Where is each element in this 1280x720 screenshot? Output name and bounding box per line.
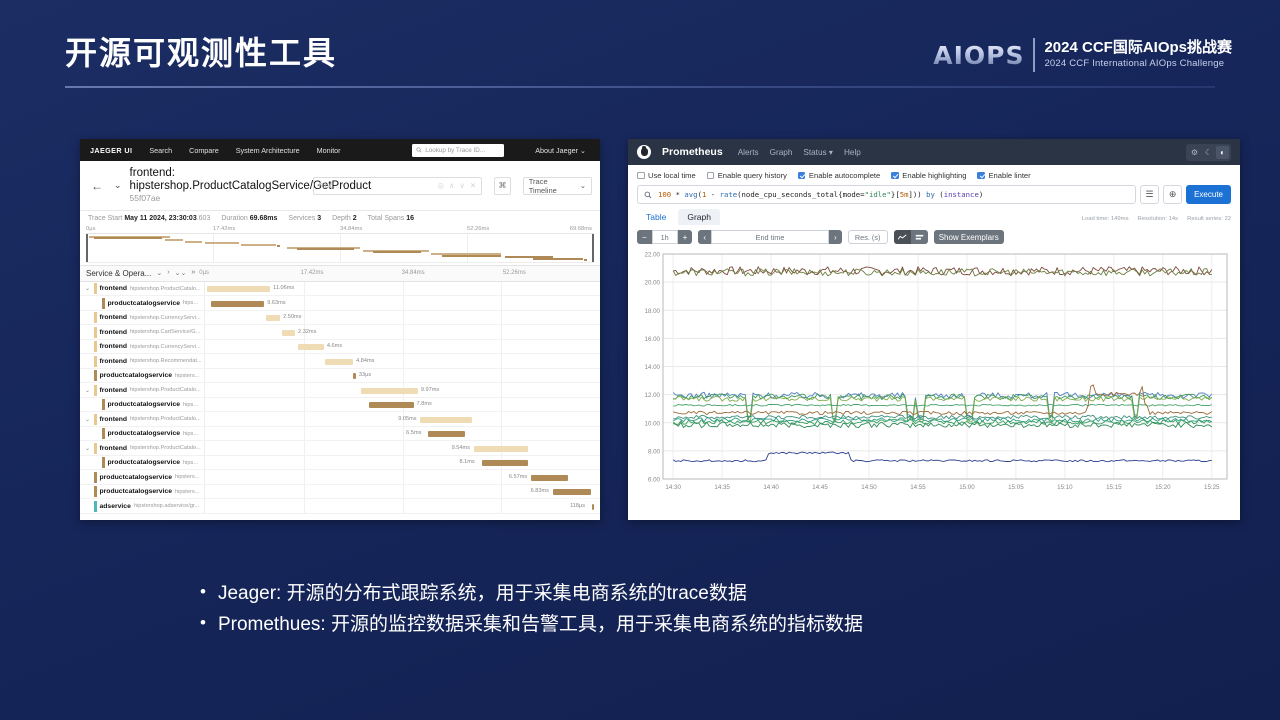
span-duration-label: 11.06ms: [273, 285, 294, 291]
minimap-drag-handle[interactable]: [592, 234, 594, 262]
range-stepper[interactable]: − 1h +: [637, 230, 692, 244]
timeline-gridline: [403, 427, 404, 441]
table-row[interactable]: ⌄frontendhipstershop.ProductCatalo...9.5…: [80, 441, 600, 456]
moon-icon[interactable]: ☾: [1202, 146, 1215, 159]
service-color-swatch: [94, 472, 97, 483]
span-name-cell[interactable]: frontendhipstershop.CurrencyServi...: [80, 341, 204, 352]
logo-mark: AIOPS: [933, 41, 1024, 70]
timeline-gridline: [304, 296, 305, 310]
checkbox-enable-highlighting[interactable]: Enable highlighting: [891, 171, 966, 180]
y-axis-label: 6.00: [648, 477, 661, 484]
prometheus-nav-alerts[interactable]: Alerts: [738, 148, 759, 157]
span-bar[interactable]: [369, 402, 414, 408]
table-row[interactable]: ⌄frontendhipstershop.ProductCatalo...9.9…: [80, 383, 600, 398]
timeline-gridline: [403, 325, 404, 339]
span-track[interactable]: 2.50ms: [204, 311, 600, 325]
prometheus-brand[interactable]: Prometheus: [662, 146, 723, 158]
line-chart-icon[interactable]: [894, 230, 911, 244]
span-name-cell[interactable]: adservicehipstershop.adservice/gr...: [80, 501, 204, 512]
table-row[interactable]: productcatalogservicehips...7.8ms: [80, 398, 600, 413]
graph-controls[interactable]: − 1h + ‹ End time › Res. (s) Show Exempl…: [628, 225, 1240, 250]
x-axis-label: 14:40: [763, 484, 779, 491]
span-duration-label: 6.57ms: [509, 474, 527, 480]
trace-id-search-placeholder: Lookup by Trace ID...: [425, 147, 485, 154]
timeline-gridline: [501, 383, 502, 397]
query-token: mode: [843, 190, 861, 199]
timeline-gridline: [501, 398, 502, 412]
minimap-drag-handle[interactable]: [86, 234, 88, 262]
find-next-icon[interactable]: ∨: [459, 181, 465, 190]
find-clear-icon[interactable]: ◎: [437, 181, 444, 190]
keyboard-shortcut-button[interactable]: ⌘: [494, 177, 511, 195]
chart-type-toggle[interactable]: [894, 230, 928, 244]
timeline-gridline: [403, 456, 404, 470]
minimap-tick: 69.68ms: [570, 226, 592, 232]
y-axis-label: 8.00: [648, 448, 661, 455]
table-row[interactable]: frontendhipstershop.CurrencyServi...4.6m…: [80, 340, 600, 355]
contrast-icon[interactable]: ◐: [1216, 146, 1229, 159]
query-stats: Load time: 149ms Resolution: 14s Result …: [1082, 216, 1231, 225]
time-prev-button[interactable]: ‹: [698, 230, 711, 244]
theme-controls[interactable]: ⚙ ☾ ◐: [1186, 144, 1231, 161]
page-title: 开源可观测性工具: [65, 28, 337, 74]
prometheus-nav-graph[interactable]: Graph: [770, 148, 793, 157]
service-color-swatch: [102, 428, 105, 439]
span-bar[interactable]: [482, 460, 528, 466]
trace-minimap[interactable]: 0µs17.42ms34.84ms52.26ms69.68ms: [86, 225, 594, 263]
span-service-name: frontend: [100, 445, 128, 452]
span-operation-name: hipstershop.Recommendat...: [130, 358, 202, 364]
query-token: }[: [891, 190, 900, 199]
span-name-cell[interactable]: ⌄frontendhipstershop.ProductCatalo...: [80, 283, 204, 294]
minimap-tick: 0µs: [86, 226, 95, 232]
timeline-tick: 52.26ms: [503, 270, 526, 276]
timeline-tick: 0µs: [199, 270, 209, 276]
minimap-span-bar: [373, 251, 421, 253]
span-operation-name: hipstershop.ProductCatalo...: [130, 445, 201, 451]
minimap-ticks: 0µs17.42ms34.84ms52.26ms69.68ms: [86, 225, 594, 234]
span-track[interactable]: 4.6ms: [204, 340, 600, 354]
service-color-swatch: [94, 356, 97, 367]
checkbox-icon[interactable]: [798, 172, 806, 180]
span-track[interactable]: 9.05ms: [204, 412, 600, 426]
stat-result-series: Result series: 22: [1187, 216, 1231, 222]
chevron-down-icon[interactable]: ⌄: [84, 387, 91, 394]
span-track[interactable]: 9.54ms: [204, 441, 600, 455]
jaeger-nav-compare[interactable]: Compare: [189, 146, 219, 155]
span-column-title: Service & Opera...: [86, 269, 151, 278]
series-line-instance-d[interactable]: [673, 394, 1212, 420]
find-prev-icon[interactable]: ∧: [449, 181, 455, 190]
span-operation-name: hips...: [183, 300, 198, 306]
table-row[interactable]: productcatalogservicehipsters...6.57ms: [80, 470, 600, 485]
span-service-name: productcatalogservice: [100, 488, 173, 495]
timeline-gridline: [304, 398, 305, 412]
minimap-canvas[interactable]: [86, 234, 594, 262]
trace-id: 55f07ae: [130, 193, 161, 203]
span-name-cell[interactable]: ⌄frontendhipstershop.ProductCatalo...: [80, 414, 204, 425]
service-color-swatch: [102, 399, 105, 410]
query-options[interactable]: Use local timeEnable query historyEnable…: [628, 165, 1240, 185]
chevron-down-icon[interactable]: ⌄: [84, 285, 91, 292]
show-exemplars-button[interactable]: Show Exemplars: [934, 230, 1004, 244]
end-time-input[interactable]: End time: [711, 230, 829, 244]
table-row[interactable]: productcatalogservicehips...9.63ms: [80, 296, 600, 311]
query-input[interactable]: 100 * avg(1 - rate(node_cpu_seconds_tota…: [637, 185, 1136, 204]
jaeger-navbar: JAEGER UI Search Compare System Architec…: [80, 139, 600, 161]
find-controls[interactable]: ◎ ∧ ∨ ✕: [437, 181, 476, 190]
timeline-gridline: [403, 470, 404, 484]
span-bar[interactable]: [353, 373, 356, 379]
jaeger-nav-monitor[interactable]: Monitor: [317, 146, 341, 155]
table-row[interactable]: ⌄frontendhipstershop.ProductCatalo...11.…: [80, 282, 600, 297]
series-line-instance-l[interactable]: [673, 452, 1212, 462]
span-track[interactable]: 6.83ms: [204, 485, 600, 499]
bullet-dot-icon: •: [200, 578, 206, 606]
metrics-explorer-icon[interactable]: ☰: [1140, 185, 1159, 204]
time-next-button[interactable]: ›: [829, 230, 842, 244]
search-icon: [644, 191, 652, 199]
graph-area[interactable]: 6.008.0010.0012.0014.0016.0018.0020.0022…: [628, 250, 1240, 506]
logo-divider: [1033, 38, 1035, 72]
span-duration-label: 7.8ms: [417, 401, 432, 407]
span-track[interactable]: 4.84ms: [204, 354, 600, 368]
span-duration-label: 9.97ms: [421, 387, 439, 393]
table-row[interactable]: productcatalogservicehipsters...6.83ms: [80, 485, 600, 500]
timeline-gridline: [304, 354, 305, 368]
timeline-gridline: [403, 441, 404, 455]
timeline-gridline: [403, 369, 404, 383]
span-name-cell[interactable]: ⌄frontendhipstershop.ProductCatalo...: [80, 385, 204, 396]
span-track[interactable]: 8.1ms: [204, 456, 600, 470]
tab-table[interactable]: Table: [637, 209, 675, 225]
timeline-gridline: [304, 311, 305, 325]
stat-resolution: Resolution: 14s: [1138, 216, 1179, 222]
span-bar[interactable]: [207, 286, 270, 292]
span-operation-name: hipstershop.CartService/G...: [130, 329, 200, 335]
stacked-chart-icon[interactable]: [911, 230, 928, 244]
span-duration-label: 2.32ms: [298, 329, 316, 335]
timeline-gridline: [501, 282, 502, 296]
span-name-cell[interactable]: productcatalogservicehips...: [80, 399, 204, 410]
prometheus-nav-status[interactable]: Status ▾: [803, 147, 833, 157]
span-service-name: adservice: [100, 503, 131, 510]
timeline-gridline: [304, 412, 305, 426]
cpu-usage-line-chart[interactable]: 6.008.0010.0012.0014.0016.0018.0020.0022…: [637, 250, 1231, 495]
span-track[interactable]: 6.57ms: [204, 470, 600, 484]
timeline-gridline: [501, 499, 502, 513]
span-duration-label: 4.84ms: [356, 358, 374, 364]
timeline-gridline: [403, 311, 404, 325]
jaeger-screenshot: JAEGER UI Search Compare System Architec…: [80, 139, 600, 520]
table-row[interactable]: ⌄frontendhipstershop.ProductCatalo...9.0…: [80, 412, 600, 427]
range-input[interactable]: 1h: [652, 230, 678, 244]
span-column-header: Service & Opera... ⌄ › ⌄⌄ » 0µs17.42ms34…: [80, 265, 600, 282]
collapse-two-icon[interactable]: ⌄⌄: [175, 269, 187, 277]
timeline-gridline: [304, 282, 305, 296]
prometheus-navbar: Prometheus Alerts Graph Status ▾ Help ⚙ …: [628, 139, 1240, 165]
meta-trace-start: Trace Start May 11 2024, 23:30:03.603: [88, 215, 210, 222]
chevron-down-icon[interactable]: ⌄: [114, 180, 122, 191]
span-bar[interactable]: [592, 504, 594, 510]
find-placeholder: Find...: [319, 181, 340, 190]
span-track[interactable]: 33µs: [204, 369, 600, 383]
span-bar[interactable]: [282, 330, 295, 336]
span-service-name: productcatalogservice: [108, 300, 181, 307]
minimap-gridline: [213, 234, 214, 262]
service-color-swatch: [94, 414, 97, 425]
span-duration-label: 118µs: [570, 503, 585, 509]
query-help-icon[interactable]: ⊕: [1163, 185, 1182, 204]
timeline-gridline: [501, 427, 502, 441]
timeline-gridline: [501, 325, 502, 339]
table-row[interactable]: adservicehipstershop.adservice/gr...118µ…: [80, 499, 600, 514]
chevron-down-icon[interactable]: ⌄: [84, 416, 91, 423]
service-color-swatch: [94, 341, 97, 352]
gear-icon[interactable]: ⚙: [1188, 146, 1201, 159]
minimap-span-bar: [297, 248, 354, 250]
minimap-tick: 34.84ms: [340, 226, 362, 232]
span-operation-name: hipsters...: [175, 489, 199, 495]
table-row[interactable]: frontendhipstershop.CurrencyServi...2.50…: [80, 311, 600, 326]
timeline-gridline: [501, 470, 502, 484]
span-name-cell[interactable]: frontendhipstershop.CurrencyServi...: [80, 312, 204, 323]
aiops-logo: AIOPS 2024 CCF国际AIOps挑战赛 2024 CCF Intern…: [933, 38, 1232, 72]
prometheus-logo-icon: [637, 145, 651, 159]
range-increase-button[interactable]: +: [678, 230, 693, 244]
timeline-gridline: [304, 470, 305, 484]
span-bar[interactable]: [420, 417, 472, 423]
span-bar[interactable]: [298, 344, 324, 350]
find-close-icon[interactable]: ✕: [470, 181, 476, 190]
end-time-picker[interactable]: ‹ End time ›: [698, 230, 841, 244]
checkbox-enable-query-history[interactable]: Enable query history: [707, 171, 787, 180]
span-duration-label: 33µs: [359, 372, 371, 378]
series-line-instance-f[interactable]: [673, 404, 1212, 406]
trace-title: frontend: hipstershop.ProductCatalogServ…: [130, 167, 305, 205]
span-duration-label: 2.50ms: [283, 314, 301, 320]
span-service-name: frontend: [100, 387, 128, 394]
minimap-gridline: [467, 234, 468, 262]
y-axis-label: 20.00: [645, 280, 661, 287]
span-operation-name: hipsters...: [175, 373, 199, 379]
minimap-span-bar: [584, 259, 587, 261]
span-bar[interactable]: [211, 301, 264, 307]
result-tabs[interactable]: Table Graph Load time: 149ms Resolution:…: [628, 204, 1240, 225]
span-name-cell[interactable]: productcatalogservicehipsters...: [80, 486, 204, 497]
minimap-span-bar: [241, 244, 277, 246]
span-name-cell[interactable]: productcatalogservicehipsters...: [80, 472, 204, 483]
span-operation-name: hipstershop.CurrencyServi...: [130, 315, 201, 321]
span-service-name: frontend: [100, 285, 128, 292]
logo-title-cn: 2024 CCF国际AIOps挑战赛: [1044, 39, 1232, 58]
x-axis-label: 14:45: [812, 484, 828, 491]
jaeger-nav-system-architecture[interactable]: System Architecture: [236, 146, 300, 155]
checkbox-label: Enable autocomplete: [809, 171, 880, 180]
service-color-swatch: [94, 370, 97, 381]
span-name-cell[interactable]: productcatalogservicehipsters...: [80, 370, 204, 381]
span-operation-name: hipstershop.ProductCatalo...: [130, 416, 201, 422]
minimap-span-bar: [165, 239, 183, 241]
checkbox-enable-linter[interactable]: Enable linter: [977, 171, 1030, 180]
checkbox-icon[interactable]: [637, 172, 645, 180]
query-token: ): [979, 190, 983, 199]
span-track[interactable]: 9.97ms: [204, 383, 600, 397]
execute-button[interactable]: Execute: [1186, 185, 1231, 204]
trace-id-search-input[interactable]: Lookup by Trace ID...: [412, 144, 504, 157]
x-axis-label: 15:15: [1106, 484, 1122, 491]
span-duration-label: 6.83ms: [531, 488, 549, 494]
back-arrow-icon[interactable]: ←: [88, 179, 106, 193]
bullet-list: • Jeager: 开源的分布式跟踪系统，用于采集电商系统的trace数据 • …: [200, 578, 863, 641]
query-token: instance: [944, 190, 979, 199]
query-token: *: [671, 190, 684, 199]
span-bar[interactable]: [325, 359, 353, 365]
span-track[interactable]: 6.5ms: [204, 427, 600, 441]
timeline-gridline: [501, 354, 502, 368]
range-decrease-button[interactable]: −: [637, 230, 652, 244]
span-name-cell[interactable]: frontendhipstershop.CartService/G...: [80, 327, 204, 338]
checkbox-use-local-time[interactable]: Use local time: [637, 171, 696, 180]
title-divider: [65, 86, 1215, 88]
timeline-gridline: [501, 412, 502, 426]
query-token: (node_cpu_seconds_total{: [737, 190, 842, 199]
timeline-tick-header: 0µs17.42ms34.84ms52.26ms: [195, 266, 600, 281]
table-row[interactable]: productcatalogservicehips...6.5ms: [80, 427, 600, 442]
table-row[interactable]: productcatalogservicehipsters...33µs: [80, 369, 600, 384]
about-jaeger-menu[interactable]: About Jaeger ⌄: [535, 146, 586, 155]
span-operation-name: hips...: [183, 460, 198, 466]
span-service-name: frontend: [100, 416, 128, 423]
span-track[interactable]: 7.8ms: [204, 398, 600, 412]
span-bar[interactable]: [361, 388, 418, 394]
service-color-swatch: [94, 312, 97, 323]
chevron-down-icon[interactable]: ⌄: [84, 445, 91, 452]
service-color-swatch: [94, 385, 97, 396]
query-token: 100: [658, 190, 671, 199]
span-name-cell[interactable]: productcatalogservicehips...: [80, 298, 204, 309]
jaeger-nav-search[interactable]: Search: [149, 146, 172, 155]
query-token: -: [706, 190, 719, 199]
minimap-tick: 17.42ms: [213, 226, 235, 232]
chevron-down-icon: ⌄: [580, 181, 586, 190]
span-track[interactable]: 118µs: [204, 499, 600, 513]
prometheus-nav-help[interactable]: Help: [844, 148, 861, 157]
find-input[interactable]: Find... ◎ ∧ ∨ ✕: [313, 177, 483, 195]
span-operation-name: hipstershop.ProductCatalo...: [130, 286, 201, 292]
table-row[interactable]: frontendhipstershop.Recommendat...4.84ms: [80, 354, 600, 369]
bullet-text: Promethues: 开源的监控数据采集和告警工具，用于采集电商系统的指标数据: [218, 609, 863, 640]
span-service-name: productcatalogservice: [100, 474, 173, 481]
query-token: by: [926, 190, 935, 199]
timeline-gridline: [501, 485, 502, 499]
query-expression: 100 * avg(1 - rate(node_cpu_seconds_tota…: [658, 190, 983, 199]
span-operation-name: hipstershop.CurrencyServi...: [130, 344, 201, 350]
meta-duration: Duration 69.68ms: [221, 215, 277, 222]
table-row[interactable]: productcatalogservicehips...8.1ms: [80, 456, 600, 471]
query-token: (: [935, 190, 944, 199]
service-color-swatch: [94, 486, 97, 497]
span-service-name: productcatalogservice: [108, 459, 181, 466]
x-axis-label: 14:30: [665, 484, 681, 491]
span-track[interactable]: 2.32ms: [204, 325, 600, 339]
search-icon: [416, 147, 422, 153]
query-token: 5m: [900, 190, 909, 199]
span-column-controls[interactable]: ⌄ › ⌄⌄ »: [156, 269, 195, 277]
prometheus-screenshot: Prometheus Alerts Graph Status ▾ Help ⚙ …: [628, 139, 1240, 520]
list-item: • Jeager: 开源的分布式跟踪系统，用于采集电商系统的trace数据: [200, 578, 863, 609]
service-color-swatch: [94, 443, 97, 454]
span-name-cell[interactable]: productcatalogservicehips...: [80, 428, 204, 439]
y-axis-label: 12.00: [645, 392, 661, 399]
minimap-span-bar: [533, 258, 583, 260]
query-row[interactable]: 100 * avg(1 - rate(node_cpu_seconds_tota…: [628, 185, 1240, 204]
service-color-swatch: [94, 283, 97, 294]
checkbox-enable-autocomplete[interactable]: Enable autocomplete: [798, 171, 880, 180]
minimap-span-bar: [94, 237, 163, 239]
timeline-gridline: [304, 456, 305, 470]
span-name-cell[interactable]: frontendhipstershop.Recommendat...: [80, 356, 204, 367]
minimap-tick: 52.26ms: [467, 226, 489, 232]
collapse-all-icon[interactable]: ⌄: [156, 269, 162, 277]
minimap-span-bar: [442, 255, 501, 257]
chevron-down-icon: ▾: [827, 148, 833, 157]
trace-meta-bar: Trace Start May 11 2024, 23:30:03.603 Du…: [80, 211, 600, 225]
span-track[interactable]: 11.06ms: [204, 282, 600, 296]
span-service-name: productcatalogservice: [100, 372, 173, 379]
checkbox-label: Enable linter: [988, 171, 1030, 180]
x-axis-label: 14:55: [910, 484, 926, 491]
timeline-gridline: [304, 499, 305, 513]
timeline-gridline: [501, 296, 502, 310]
span-duration-label: 6.5ms: [406, 430, 421, 436]
span-name-cell[interactable]: productcatalogservicehips...: [80, 457, 204, 468]
span-rows[interactable]: ⌄frontendhipstershop.ProductCatalo...11.…: [80, 282, 600, 514]
span-bar[interactable]: [266, 315, 280, 321]
timeline-tick: 17.42ms: [300, 270, 323, 276]
table-row[interactable]: frontendhipstershop.CartService/G...2.32…: [80, 325, 600, 340]
timeline-tick: 34.84ms: [402, 270, 425, 276]
minimap-span-bar: [205, 242, 239, 244]
span-bar[interactable]: [428, 431, 465, 437]
list-item: • Promethues: 开源的监控数据采集和告警工具，用于采集电商系统的指标…: [200, 609, 863, 640]
checkbox-icon[interactable]: [707, 172, 715, 180]
x-axis-label: 14:50: [861, 484, 877, 491]
checkbox-icon[interactable]: [977, 172, 985, 180]
checkbox-icon[interactable]: [891, 172, 899, 180]
timeline-gridline: [403, 354, 404, 368]
tab-graph[interactable]: Graph: [678, 209, 720, 225]
view-mode-select[interactable]: Trace Timeline⌄: [523, 177, 592, 195]
y-axis-label: 18.00: [645, 308, 661, 315]
expand-one-icon[interactable]: ›: [167, 269, 169, 277]
checkbox-label: Enable query history: [718, 171, 787, 180]
span-bar[interactable]: [553, 489, 592, 495]
resolution-input[interactable]: Res. (s): [848, 230, 888, 244]
span-name-cell[interactable]: ⌄frontendhipstershop.ProductCatalo...: [80, 443, 204, 454]
meta-services: Services 3: [288, 215, 321, 222]
timeline-gridline: [304, 427, 305, 441]
x-axis-label: 15:00: [959, 484, 975, 491]
jaeger-brand[interactable]: JAEGER UI: [90, 146, 132, 155]
span-bar[interactable]: [531, 475, 569, 481]
meta-depth: Depth 2: [332, 215, 357, 222]
span-track[interactable]: 9.63ms: [204, 296, 600, 310]
span-bar[interactable]: [474, 446, 528, 452]
x-axis-label: 15:20: [1155, 484, 1171, 491]
timeline-gridline: [403, 499, 404, 513]
span-duration-label: 9.63ms: [267, 300, 285, 306]
